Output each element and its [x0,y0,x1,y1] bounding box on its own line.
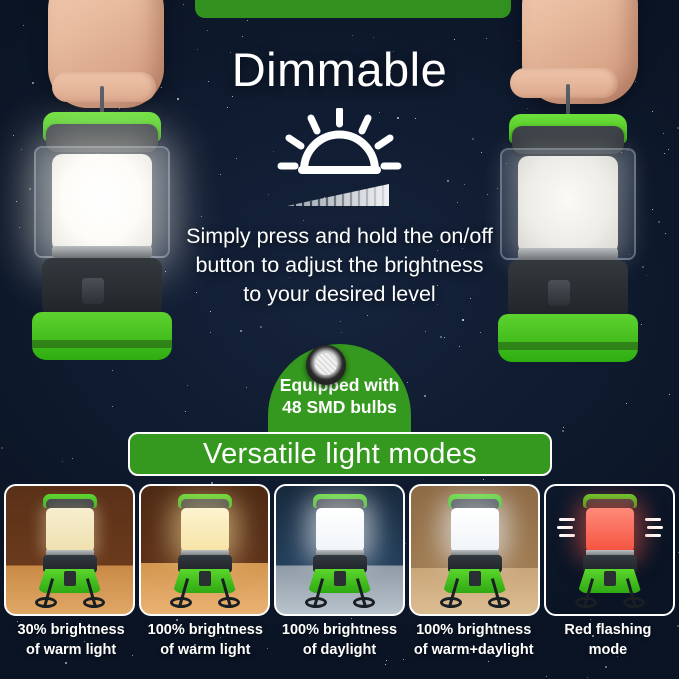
thumbnail-mode-3[interactable] [274,484,405,616]
led-module-icon [306,345,346,385]
light-mode-caption-row: 30% brightness of warm light 100% bright… [0,620,679,660]
description-line-1: Simply press and hold the on/off [139,222,540,251]
lantern-ring-left [52,246,152,258]
lantern-power-button-left [82,278,104,304]
caption-mode-2: 100% brightness of warm light [138,620,272,660]
thumbnail-mode-5[interactable] [544,484,675,616]
description-text: Simply press and hold the on/off button … [139,222,540,309]
top-green-banner [195,0,511,18]
sun-dimmer-icon [271,108,408,218]
mini-lantern-3 [297,492,383,608]
mini-glow-3 [316,508,364,552]
thumbnail-mode-1[interactable] [4,484,135,616]
flash-mark-icon [557,526,573,529]
lantern-base-left [32,312,172,360]
caption-mode-4-line-1: 100% brightness [407,620,541,640]
caption-mode-1: 30% brightness of warm light [4,620,138,660]
mini-glow-1 [46,508,94,552]
caption-mode-1-line-2: of warm light [4,640,138,660]
page-title: Dimmable [0,42,679,97]
versatile-modes-label: Versatile light modes [203,438,477,471]
smd-badge-text: Equipped with 48 SMD bulbs [268,374,411,418]
caption-mode-5-line-2: mode [541,640,675,660]
flash-mark-icon [645,534,661,537]
caption-mode-4: 100% brightness of warm+daylight [407,620,541,660]
caption-mode-5-line-1: Red flashing [541,620,675,640]
lantern-base-right [498,314,638,362]
versatile-modes-banner: Versatile light modes [128,432,552,476]
lantern-base-strip-right [498,342,638,350]
caption-mode-5: Red flashing mode [541,620,675,660]
brightness-level-bars [287,184,389,207]
description-line-2: button to adjust the brightness [139,251,540,280]
infographic-canvas: Dimmable [0,0,679,679]
caption-mode-2-line-2: of warm light [138,640,272,660]
caption-mode-1-line-1: 30% brightness [4,620,138,640]
light-mode-thumbnail-row [0,484,679,616]
mini-lantern-1 [27,492,113,608]
lantern-base-strip-left [32,340,172,348]
flash-mark-icon [559,534,575,537]
lantern-power-button-right [548,280,570,306]
description-line-3: to your desired level [139,280,540,309]
caption-mode-4-line-2: of warm+daylight [407,640,541,660]
mini-lantern-5 [567,492,653,608]
flash-mark-icon [647,526,663,529]
caption-mode-3: 100% brightness of daylight [272,620,406,660]
mini-glow-5 [586,508,634,552]
mini-glow-2 [181,508,229,552]
caption-mode-3-line-2: of daylight [272,640,406,660]
caption-mode-3-line-1: 100% brightness [272,620,406,640]
mini-lantern-2 [162,492,248,608]
thumbnail-mode-4[interactable] [409,484,540,616]
thumbnail-mode-2[interactable] [139,484,270,616]
smd-badge-line-2: 48 SMD bulbs [268,396,411,418]
caption-mode-2-line-1: 100% brightness [138,620,272,640]
lantern-diffuser-left [52,154,152,252]
flash-mark-icon [559,518,575,521]
flash-mark-icon [645,518,661,521]
mini-lantern-4 [432,492,518,608]
mini-glow-4 [451,508,499,552]
